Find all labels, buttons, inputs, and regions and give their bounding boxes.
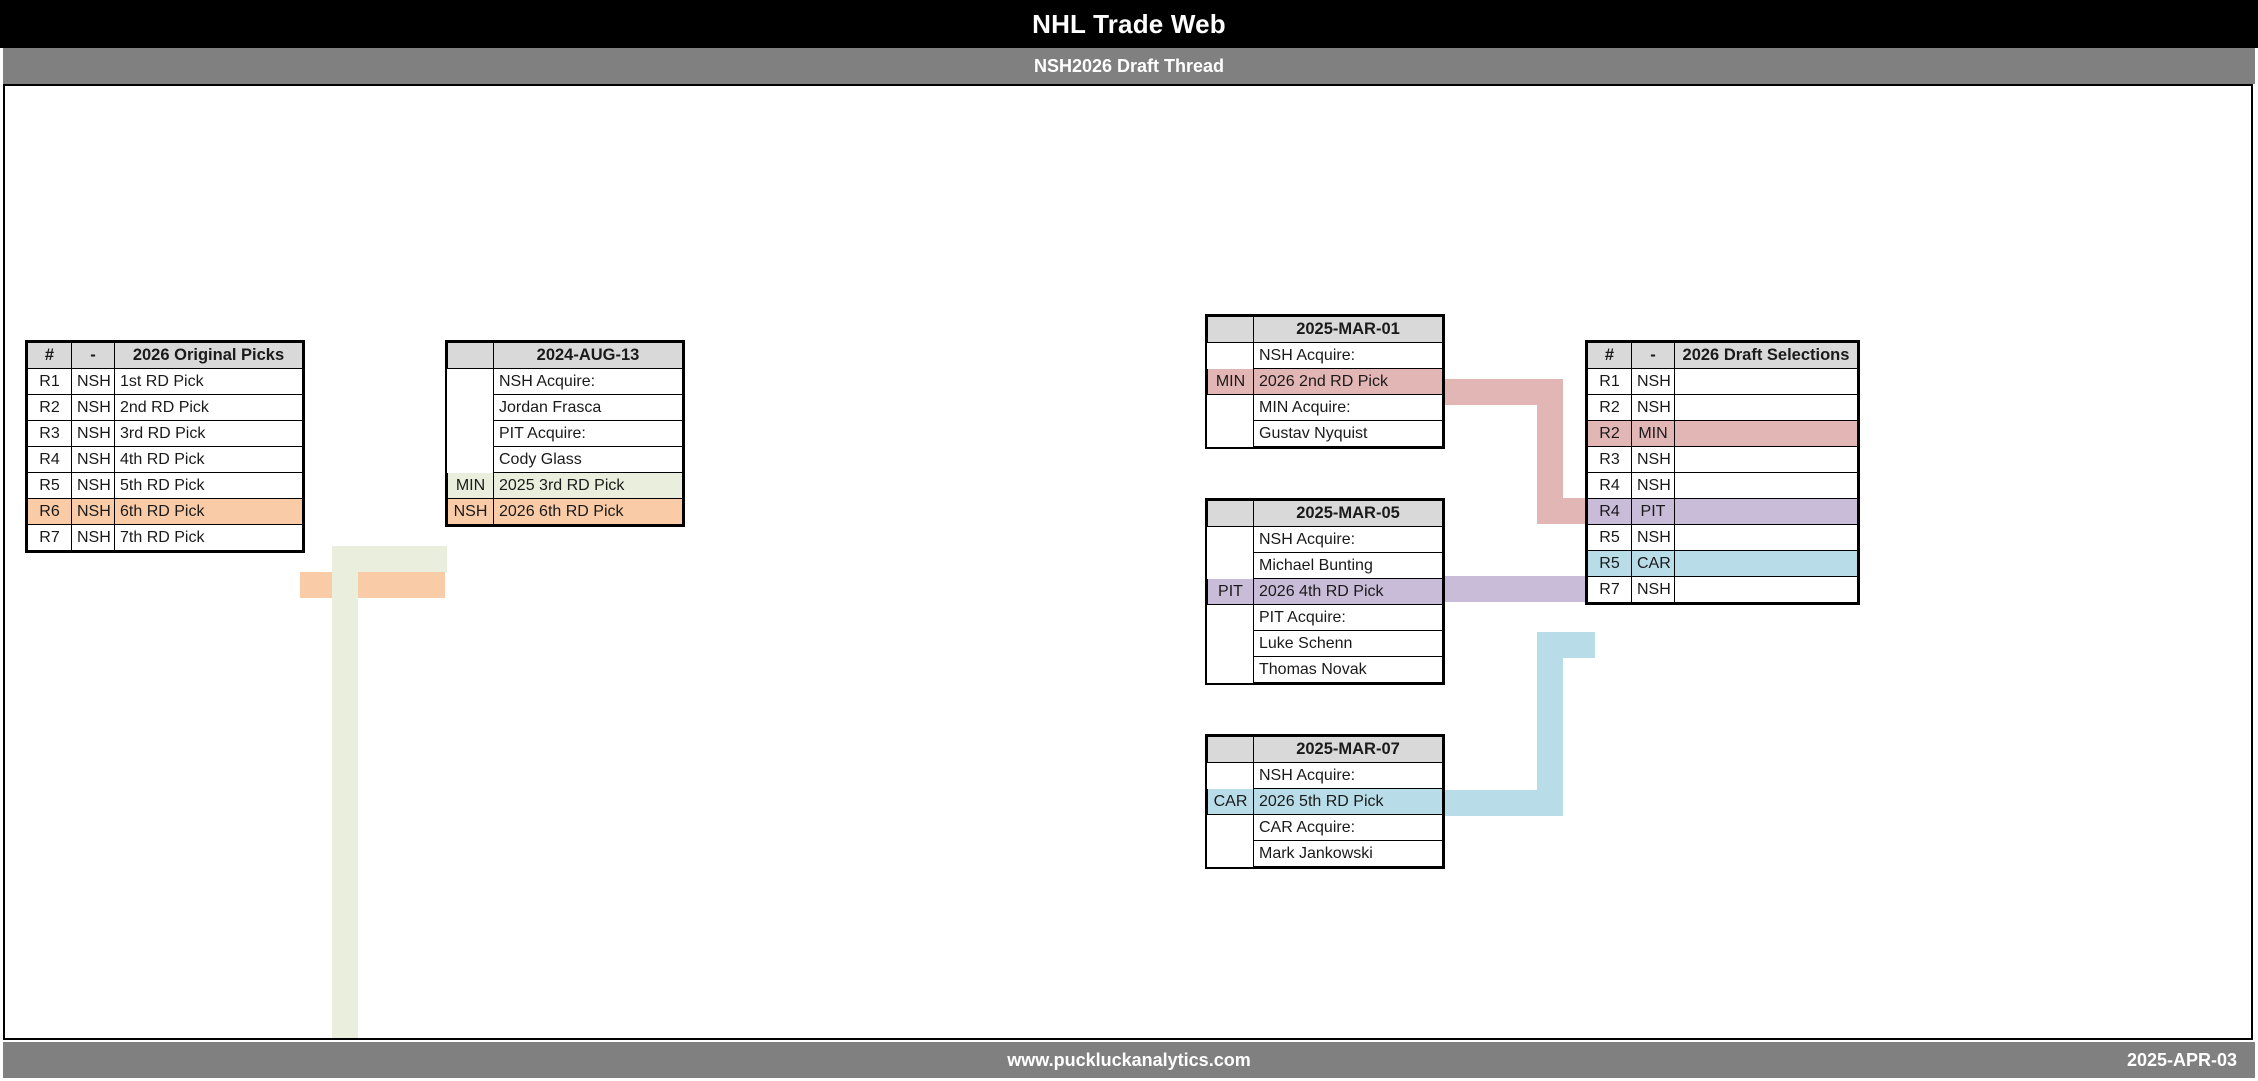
trade-card-row[interactable]: Luke Schenn <box>1208 631 1443 657</box>
cell-selection[interactable] <box>1675 447 1858 473</box>
cell-asset-label: PIT Acquire: <box>1254 605 1443 631</box>
trade-web-canvas: # - 2026 Original Picks R1NSH1st RD Pick… <box>3 84 2253 1040</box>
cell-selection[interactable] <box>1675 369 1858 395</box>
trade-card-date: 2025-MAR-07 <box>1254 737 1443 763</box>
cell-round: R3 <box>1588 447 1632 473</box>
trade-card-body: NSH Acquire:Michael BuntingPIT2026 4th R… <box>1208 527 1443 683</box>
table-row[interactable]: R3NSH3rd RD Pick <box>28 421 303 447</box>
table-row[interactable]: R1NSH1st RD Pick <box>28 369 303 395</box>
trade-card-row[interactable]: PIT2026 4th RD Pick <box>1208 579 1443 605</box>
cell-pick-label: 1st RD Pick <box>115 369 303 395</box>
cell-team: MIN <box>1632 421 1675 447</box>
table-row[interactable]: R2NSH <box>1588 395 1858 421</box>
footer-date-wrap: 2025-APR-03 <box>2127 1042 2237 1078</box>
cell-team: NSH <box>72 525 115 551</box>
cell-selection[interactable] <box>1675 577 1858 603</box>
trade-card-header-row: 2025-MAR-07 <box>1208 737 1443 763</box>
trade-card-row[interactable]: NSH Acquire: <box>448 369 683 395</box>
cell-asset-label: 2025 3rd RD Pick <box>494 473 683 499</box>
table-header-row: # - 2026 Draft Selections <box>1588 343 1858 369</box>
connector-blue-vertical <box>1537 632 1563 816</box>
trade-card-row[interactable]: Mark Jankowski <box>1208 841 1443 867</box>
cell-counterparty-team <box>1208 841 1254 867</box>
connector-green-min-vertical <box>332 546 358 1040</box>
cell-round: R4 <box>1588 499 1632 525</box>
cell-asset-label: 2026 4th RD Pick <box>1254 579 1443 605</box>
cell-selection[interactable] <box>1675 551 1858 577</box>
cell-round: R2 <box>28 395 72 421</box>
trade-card-row[interactable]: Michael Bunting <box>1208 553 1443 579</box>
original-picks-body: R1NSH1st RD PickR2NSH2nd RD PickR3NSH3rd… <box>28 369 303 551</box>
cell-asset-label: 2026 6th RD Pick <box>494 499 683 525</box>
thread-subtitle: NSH2026 Draft Thread <box>1034 56 1224 77</box>
cell-counterparty-team <box>448 447 494 473</box>
cell-team: CAR <box>1632 551 1675 577</box>
cell-round: R1 <box>1588 369 1632 395</box>
trade-card-row[interactable]: PIT Acquire: <box>1208 605 1443 631</box>
cell-team: NSH <box>72 421 115 447</box>
footer-site-url[interactable]: www.puckluckanalytics.com <box>1007 1050 1250 1071</box>
trade-card-row[interactable]: CAR Acquire: <box>1208 815 1443 841</box>
trade-card-header-row: 2025-MAR-05 <box>1208 501 1443 527</box>
trade-card-header-row: 2024-AUG-13 <box>448 343 683 369</box>
cell-team: NSH <box>1632 525 1675 551</box>
cell-pick-label: 5th RD Pick <box>115 473 303 499</box>
cell-round: R5 <box>1588 551 1632 577</box>
col-header-team: - <box>72 343 115 369</box>
cell-pick-label: 6th RD Pick <box>115 499 303 525</box>
connector-green-min-to-card <box>332 546 447 572</box>
cell-asset-label: Jordan Frasca <box>494 395 683 421</box>
col-header-number: # <box>28 343 72 369</box>
cell-team: NSH <box>1632 395 1675 421</box>
cell-team: NSH <box>1632 369 1675 395</box>
trade-card-header-row: 2025-MAR-01 <box>1208 317 1443 343</box>
cell-team: NSH <box>72 395 115 421</box>
cell-asset-label: Luke Schenn <box>1254 631 1443 657</box>
cell-round: R2 <box>1588 421 1632 447</box>
cell-asset-label: Mark Jankowski <box>1254 841 1443 867</box>
cell-counterparty-team <box>1208 421 1254 447</box>
trade-card-body: NSH Acquire:CAR2026 5th RD PickCAR Acqui… <box>1208 763 1443 867</box>
cell-counterparty-team: MIN <box>448 473 494 499</box>
original-picks-table[interactable]: # - 2026 Original Picks R1NSH1st RD Pick… <box>25 340 305 553</box>
cell-counterparty-team <box>448 395 494 421</box>
cell-counterparty-team <box>1208 527 1254 553</box>
trade-card-row[interactable]: Cody Glass <box>448 447 683 473</box>
cell-round: R3 <box>28 421 72 447</box>
cell-counterparty-team <box>1208 343 1254 369</box>
draft-selections-body: R1NSHR2NSHR2MINR3NSHR4NSHR4PITR5NSHR5CAR… <box>1588 369 1858 603</box>
cell-asset-label: MIN Acquire: <box>1254 395 1443 421</box>
cell-selection[interactable] <box>1675 525 1858 551</box>
cell-counterparty-team: NSH <box>448 499 494 525</box>
cell-team: NSH <box>1632 473 1675 499</box>
trade-card-2025-mar-01[interactable]: 2025-MAR-01NSH Acquire:MIN2026 2nd RD Pi… <box>1205 314 1445 449</box>
cell-counterparty-team <box>1208 631 1254 657</box>
cell-selection[interactable] <box>1675 395 1858 421</box>
cell-team: NSH <box>1632 447 1675 473</box>
cell-selection[interactable] <box>1675 499 1858 525</box>
cell-asset-label: Gustav Nyquist <box>1254 421 1443 447</box>
trade-card-row[interactable]: Gustav Nyquist <box>1208 421 1443 447</box>
cell-counterparty-team: CAR <box>1208 789 1254 815</box>
cell-pick-label: 2nd RD Pick <box>115 395 303 421</box>
table-row[interactable]: R3NSH <box>1588 447 1858 473</box>
page-title: NHL Trade Web <box>1032 9 1226 40</box>
table-row[interactable]: R1NSH <box>1588 369 1858 395</box>
trade-card-corner <box>1208 737 1254 763</box>
cell-asset-label: Michael Bunting <box>1254 553 1443 579</box>
cell-pick-label: 7th RD Pick <box>115 525 303 551</box>
draft-selections-table[interactable]: # - 2026 Draft Selections R1NSHR2NSHR2MI… <box>1585 340 1860 605</box>
cell-counterparty-team <box>448 421 494 447</box>
table-row[interactable]: R5CAR <box>1588 551 1858 577</box>
cell-round: R5 <box>28 473 72 499</box>
cell-counterparty-team <box>1208 605 1254 631</box>
trade-card-date: 2025-MAR-05 <box>1254 501 1443 527</box>
trade-card-row[interactable]: MIN2026 2nd RD Pick <box>1208 369 1443 395</box>
table-row[interactable]: R5NSH <box>1588 525 1858 551</box>
cell-asset-label: NSH Acquire: <box>1254 343 1443 369</box>
table-row[interactable]: R2MIN <box>1588 421 1858 447</box>
footer-bar: www.puckluckanalytics.com 2025-APR-03 <box>3 1042 2255 1078</box>
cell-round: R5 <box>1588 525 1632 551</box>
cell-pick-label: 3rd RD Pick <box>115 421 303 447</box>
table-row[interactable]: R4NSH <box>1588 473 1858 499</box>
trade-card-row[interactable]: MIN2025 3rd RD Pick <box>448 473 683 499</box>
table-row[interactable]: R7NSH <box>1588 577 1858 603</box>
table-header-row: # - 2026 Original Picks <box>28 343 303 369</box>
trade-card-row[interactable]: PIT Acquire: <box>448 421 683 447</box>
cell-round: R2 <box>1588 395 1632 421</box>
cell-team: NSH <box>72 369 115 395</box>
cell-team: NSH <box>72 447 115 473</box>
app-title-bar: NHL Trade Web <box>0 0 2258 48</box>
trade-card-corner <box>448 343 494 369</box>
table-row[interactable]: R4PIT <box>1588 499 1858 525</box>
trade-card-date: 2024-AUG-13 <box>494 343 683 369</box>
cell-team: PIT <box>1632 499 1675 525</box>
cell-asset-label: 2026 5th RD Pick <box>1254 789 1443 815</box>
cell-selection[interactable] <box>1675 473 1858 499</box>
cell-counterparty-team <box>1208 395 1254 421</box>
cell-round: R7 <box>1588 577 1632 603</box>
trade-card-row[interactable]: CAR2026 5th RD Pick <box>1208 789 1443 815</box>
trade-card-row[interactable]: NSH Acquire: <box>1208 527 1443 553</box>
table-row[interactable]: R2NSH2nd RD Pick <box>28 395 303 421</box>
cell-asset-label: CAR Acquire: <box>1254 815 1443 841</box>
trade-card-row[interactable]: NSH2026 6th RD Pick <box>448 499 683 525</box>
cell-counterparty-team: MIN <box>1208 369 1254 395</box>
cell-team: NSH <box>1632 577 1675 603</box>
cell-asset-label: NSH Acquire: <box>1254 763 1443 789</box>
trade-card-row[interactable]: MIN Acquire: <box>1208 395 1443 421</box>
cell-pick-label: 4th RD Pick <box>115 447 303 473</box>
cell-asset-label: NSH Acquire: <box>494 369 683 395</box>
trade-card-2024-aug-13[interactable]: 2024-AUG-13NSH Acquire:Jordan FrascaPIT … <box>445 340 685 527</box>
trade-card-row[interactable]: Thomas Novak <box>1208 657 1443 683</box>
table-row[interactable]: R6NSH6th RD Pick <box>28 499 303 525</box>
trade-card-2025-mar-07[interactable]: 2025-MAR-07NSH Acquire:CAR2026 5th RD Pi… <box>1205 734 1445 869</box>
trade-card-corner <box>1208 317 1254 343</box>
trade-card-body: NSH Acquire:Jordan FrascaPIT Acquire:Cod… <box>448 369 683 525</box>
trade-card-date: 2025-MAR-01 <box>1254 317 1443 343</box>
cell-counterparty-team <box>448 369 494 395</box>
connector-purple-horizontal <box>1435 576 1595 602</box>
cell-team: NSH <box>72 499 115 525</box>
trade-card-row[interactable]: Jordan Frasca <box>448 395 683 421</box>
connector-orange-r6-to-aug13 <box>300 572 445 598</box>
cell-counterparty-team <box>1208 763 1254 789</box>
cell-counterparty-team: PIT <box>1208 579 1254 605</box>
col-header-number: # <box>1588 343 1632 369</box>
connector-blue-horizontal-in <box>1537 632 1595 658</box>
cell-round: R6 <box>28 499 72 525</box>
cell-round: R4 <box>1588 473 1632 499</box>
col-header-label: 2026 Draft Selections <box>1675 343 1858 369</box>
thread-subtitle-bar: NSH2026 Draft Thread <box>3 48 2255 84</box>
trade-card-row[interactable]: NSH Acquire: <box>1208 763 1443 789</box>
cell-counterparty-team <box>1208 815 1254 841</box>
table-row[interactable]: R7NSH7th RD Pick <box>28 525 303 551</box>
footer-date: 2025-APR-03 <box>2127 1050 2237 1071</box>
trade-card-row[interactable]: NSH Acquire: <box>1208 343 1443 369</box>
cell-asset-label: NSH Acquire: <box>1254 527 1443 553</box>
cell-asset-label: PIT Acquire: <box>494 421 683 447</box>
cell-round: R4 <box>28 447 72 473</box>
trade-card-body: NSH Acquire:MIN2026 2nd RD PickMIN Acqui… <box>1208 343 1443 447</box>
cell-asset-label: 2026 2nd RD Pick <box>1254 369 1443 395</box>
table-row[interactable]: R4NSH4th RD Pick <box>28 447 303 473</box>
cell-counterparty-team <box>1208 553 1254 579</box>
cell-asset-label: Cody Glass <box>494 447 683 473</box>
trade-card-2025-mar-05[interactable]: 2025-MAR-05NSH Acquire:Michael BuntingPI… <box>1205 498 1445 685</box>
table-row[interactable]: R5NSH5th RD Pick <box>28 473 303 499</box>
cell-round: R7 <box>28 525 72 551</box>
trade-card-corner <box>1208 501 1254 527</box>
col-header-team: - <box>1632 343 1675 369</box>
cell-counterparty-team <box>1208 657 1254 683</box>
cell-asset-label: Thomas Novak <box>1254 657 1443 683</box>
col-header-label: 2026 Original Picks <box>115 343 303 369</box>
cell-selection[interactable] <box>1675 421 1858 447</box>
cell-team: NSH <box>72 473 115 499</box>
cell-round: R1 <box>28 369 72 395</box>
footer-site-wrap: www.puckluckanalytics.com <box>3 1042 2255 1078</box>
